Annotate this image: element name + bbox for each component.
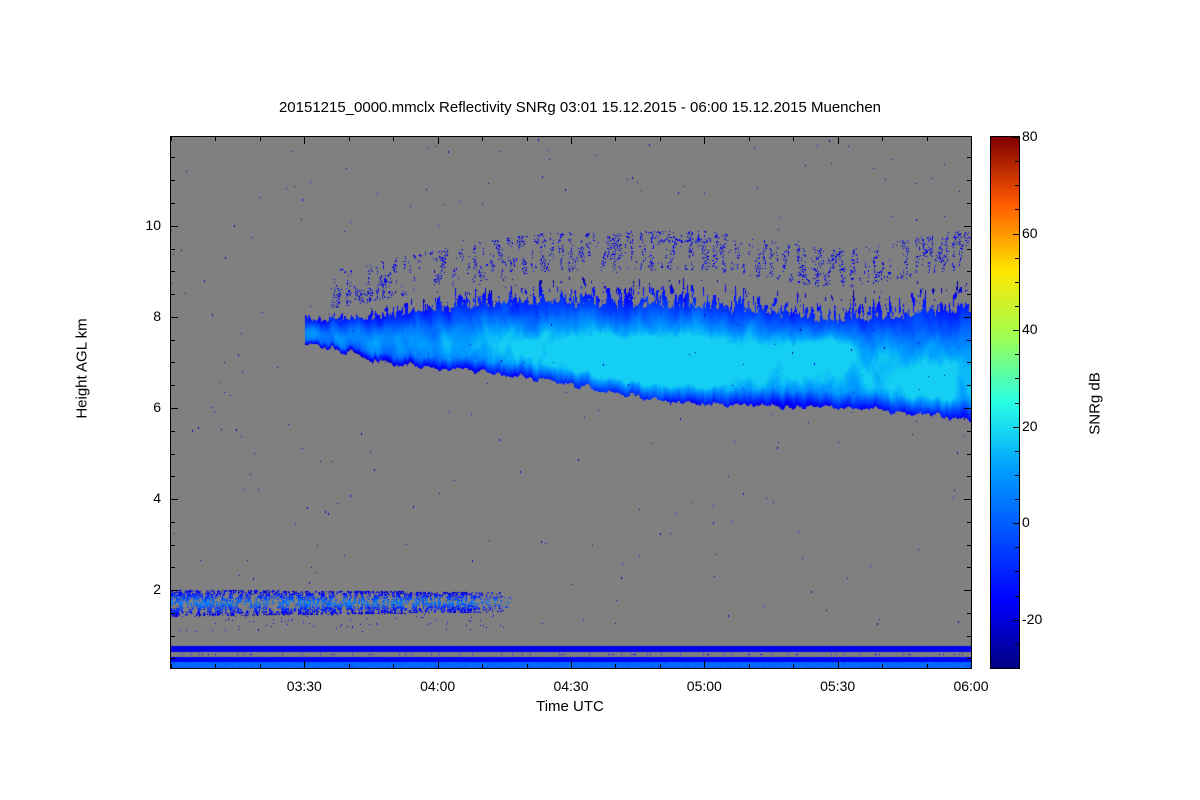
x-axis-tick-label: 03:30 bbox=[264, 678, 344, 694]
colorbar-minor-tick bbox=[1015, 451, 1019, 452]
y-axis-minor-tick bbox=[171, 294, 175, 295]
figure-title: 20151215_0000.mmclx Reflectivity SNRg 03… bbox=[0, 99, 1160, 116]
y-axis-minor-tick bbox=[171, 454, 175, 455]
colorbar-minor-tick bbox=[1015, 378, 1019, 379]
colorbar-tick bbox=[1013, 620, 1019, 621]
y-axis-tick-right bbox=[964, 499, 971, 500]
x-axis-minor-tick bbox=[482, 664, 483, 668]
x-axis-minor-tick bbox=[660, 664, 661, 668]
colorbar-minor-tick bbox=[1015, 306, 1019, 307]
y-axis-minor-tick bbox=[171, 362, 175, 363]
colorbar-tick bbox=[1013, 137, 1019, 138]
y-axis-minor-tick bbox=[171, 636, 175, 637]
colorbar-title: SNRg dB bbox=[1087, 314, 1104, 494]
x-axis-minor-tick-top bbox=[482, 137, 483, 141]
x-axis-minor-tick bbox=[882, 664, 883, 668]
x-axis-tick-top bbox=[438, 137, 439, 144]
y-axis-minor-tick-right bbox=[967, 658, 971, 659]
colorbar-minor-tick bbox=[1015, 185, 1019, 186]
y-axis-minor-tick bbox=[171, 271, 175, 272]
colorbar-minor-tick bbox=[1015, 209, 1019, 210]
y-axis-minor-tick-right bbox=[967, 271, 971, 272]
colorbar-minor-tick bbox=[1015, 403, 1019, 404]
x-axis-tick bbox=[304, 661, 305, 668]
x-axis-minor-tick-top bbox=[615, 137, 616, 141]
colorbar-minor-tick bbox=[1015, 547, 1019, 548]
y-axis-tick-right bbox=[964, 590, 971, 591]
x-axis-tick-label: 05:30 bbox=[798, 678, 878, 694]
colorbar-tick-label: 0 bbox=[1022, 514, 1030, 530]
y-axis-tick-label: 10 bbox=[121, 217, 161, 233]
y-axis-minor-tick-right bbox=[967, 362, 971, 363]
y-axis-minor-tick-right bbox=[967, 157, 971, 158]
reflectivity-heatmap bbox=[171, 137, 971, 668]
y-axis-minor-tick bbox=[171, 203, 175, 204]
y-axis-tick-label: 2 bbox=[121, 581, 161, 597]
x-axis-minor-tick bbox=[749, 664, 750, 668]
y-axis-minor-tick bbox=[171, 476, 175, 477]
x-axis-minor-tick-top bbox=[527, 137, 528, 141]
y-axis-minor-tick bbox=[171, 157, 175, 158]
y-axis-minor-tick-right bbox=[967, 522, 971, 523]
colorbar-tick-label: 20 bbox=[1022, 418, 1038, 434]
x-axis-tick bbox=[438, 661, 439, 668]
x-axis-tick-top bbox=[838, 137, 839, 144]
y-axis-tick-label: 6 bbox=[121, 399, 161, 415]
x-axis-minor-tick-top bbox=[927, 137, 928, 141]
x-axis-minor-tick bbox=[927, 664, 928, 668]
x-axis-tick-top bbox=[704, 137, 705, 144]
colorbar-tick bbox=[1013, 234, 1019, 235]
colorbar-minor-tick bbox=[1015, 161, 1019, 162]
colorbar-minor-tick bbox=[1015, 644, 1019, 645]
colorbar-minor-tick bbox=[1015, 282, 1019, 283]
x-axis-minor-tick-top bbox=[393, 137, 394, 141]
colorbar-tick-label: 40 bbox=[1022, 321, 1038, 337]
x-axis-tick bbox=[571, 661, 572, 668]
x-axis-minor-tick-top bbox=[349, 137, 350, 141]
x-axis-tick-label: 05:00 bbox=[664, 678, 744, 694]
y-axis-tick bbox=[171, 499, 178, 500]
y-axis-minor-tick bbox=[171, 613, 175, 614]
x-axis-tick bbox=[838, 661, 839, 668]
y-axis-minor-tick-right bbox=[967, 203, 971, 204]
x-axis-minor-tick-top bbox=[749, 137, 750, 141]
y-axis-minor-tick bbox=[171, 567, 175, 568]
y-axis-minor-tick-right bbox=[967, 340, 971, 341]
plot-area bbox=[170, 136, 972, 669]
colorbar-tick bbox=[1013, 427, 1019, 428]
x-axis-minor-tick-top bbox=[660, 137, 661, 141]
figure-canvas: 20151215_0000.mmclx Reflectivity SNRg 03… bbox=[0, 0, 1200, 800]
colorbar-minor-tick bbox=[1015, 596, 1019, 597]
y-axis-minor-tick-right bbox=[967, 431, 971, 432]
x-axis-tick-label: 06:00 bbox=[931, 678, 1011, 694]
colorbar-tick-label: 80 bbox=[1022, 128, 1038, 144]
y-axis-label: Height AGL km bbox=[74, 279, 91, 459]
y-axis-tick bbox=[171, 317, 178, 318]
y-axis-minor-tick bbox=[171, 658, 175, 659]
x-axis-tick bbox=[704, 661, 705, 668]
x-axis-tick-label: 04:00 bbox=[398, 678, 478, 694]
x-axis-minor-tick-top bbox=[793, 137, 794, 141]
x-axis-minor-tick bbox=[215, 664, 216, 668]
x-axis-tick bbox=[971, 661, 972, 668]
y-axis-minor-tick-right bbox=[967, 249, 971, 250]
y-axis-minor-tick bbox=[171, 431, 175, 432]
colorbar-minor-tick bbox=[1015, 571, 1019, 572]
y-axis-minor-tick-right bbox=[967, 613, 971, 614]
colorbar-minor-tick bbox=[1015, 499, 1019, 500]
y-axis-minor-tick bbox=[171, 340, 175, 341]
colorbar-tick-label: -20 bbox=[1022, 611, 1042, 627]
y-axis-tick-label: 4 bbox=[121, 490, 161, 506]
y-axis-minor-tick-right bbox=[967, 636, 971, 637]
x-axis-tick-label: 04:30 bbox=[531, 678, 611, 694]
y-axis-tick-right bbox=[964, 408, 971, 409]
x-axis-minor-tick-top bbox=[215, 137, 216, 141]
x-axis-label: Time UTC bbox=[170, 698, 970, 715]
x-axis-minor-tick-top bbox=[882, 137, 883, 141]
y-axis-minor-tick-right bbox=[967, 454, 971, 455]
y-axis-minor-tick-right bbox=[967, 294, 971, 295]
x-axis-minor-tick bbox=[793, 664, 794, 668]
x-axis-tick-top bbox=[971, 137, 972, 144]
y-axis-tick-right bbox=[964, 317, 971, 318]
y-axis-minor-tick bbox=[171, 249, 175, 250]
y-axis-tick-right bbox=[964, 226, 971, 227]
x-axis-minor-tick-top bbox=[171, 137, 172, 141]
x-axis-minor-tick bbox=[349, 664, 350, 668]
y-axis-tick bbox=[171, 590, 178, 591]
y-axis-minor-tick-right bbox=[967, 567, 971, 568]
x-axis-minor-tick-top bbox=[260, 137, 261, 141]
y-axis-tick bbox=[171, 408, 178, 409]
x-axis-minor-tick bbox=[171, 664, 172, 668]
colorbar-minor-tick bbox=[1015, 258, 1019, 259]
y-axis-minor-tick bbox=[171, 545, 175, 546]
y-axis-minor-tick-right bbox=[967, 180, 971, 181]
colorbar-tick bbox=[1013, 523, 1019, 524]
colorbar-tick-label: 60 bbox=[1022, 225, 1038, 241]
colorbar-minor-tick bbox=[1015, 475, 1019, 476]
y-axis-minor-tick-right bbox=[967, 545, 971, 546]
x-axis-tick-top bbox=[304, 137, 305, 144]
x-axis-minor-tick bbox=[260, 664, 261, 668]
x-axis-minor-tick bbox=[393, 664, 394, 668]
y-axis-minor-tick bbox=[171, 180, 175, 181]
y-axis-tick bbox=[171, 226, 178, 227]
y-axis-minor-tick-right bbox=[967, 385, 971, 386]
y-axis-minor-tick-right bbox=[967, 476, 971, 477]
y-axis-minor-tick bbox=[171, 522, 175, 523]
y-axis-minor-tick bbox=[171, 385, 175, 386]
x-axis-minor-tick bbox=[615, 664, 616, 668]
colorbar-minor-tick bbox=[1015, 668, 1019, 669]
colorbar-tick bbox=[1013, 330, 1019, 331]
x-axis-minor-tick bbox=[527, 664, 528, 668]
x-axis-tick-top bbox=[571, 137, 572, 144]
colorbar-minor-tick bbox=[1015, 354, 1019, 355]
y-axis-tick-label: 8 bbox=[121, 308, 161, 324]
